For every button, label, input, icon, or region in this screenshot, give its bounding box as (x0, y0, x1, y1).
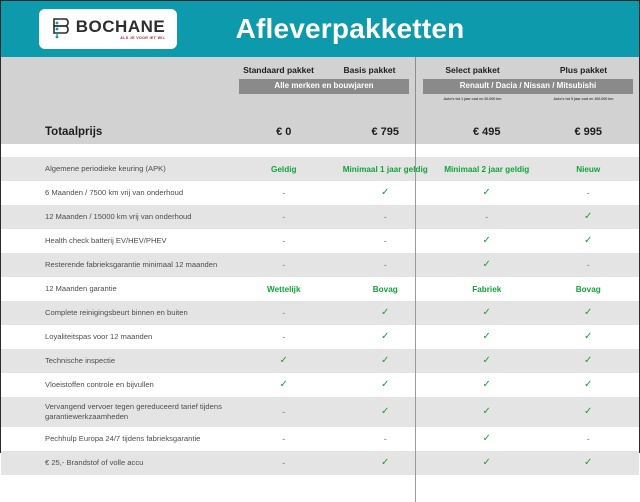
group-right-sub-1: Auto's tot 1 jaar oud en 20.000 km (417, 97, 528, 101)
row-cells: ✓✓✓✓ (233, 373, 639, 397)
cell-plus: - (538, 253, 640, 277)
cell-select: ✓ (436, 253, 538, 277)
row-label: Algemene periodieke keuring (APK) (1, 164, 233, 174)
cell-basis: - (335, 205, 437, 229)
cell-plus: ✓ (538, 229, 640, 253)
cell-select: - (436, 205, 538, 229)
cell-basis: Minimaal 1 jaar geldig (335, 157, 437, 181)
total-price-plus: € 995 (538, 126, 640, 138)
spacer-divider (415, 144, 416, 157)
cell-basis: ✓ (335, 451, 437, 475)
cell-standaard: Geldig (233, 157, 335, 181)
footer-divider (415, 475, 416, 502)
total-price-basis: € 795 (335, 126, 437, 138)
cell-basis: ✓ (335, 181, 437, 205)
cell-basis: ✓ (335, 349, 437, 373)
cell-select: ✓ (436, 301, 538, 325)
row-label: Resterende fabrieksgarantie minimaal 12 … (1, 260, 233, 270)
total-price-row: Totaalprijs € 0 € 795 € 495 € 995 (1, 120, 639, 144)
row-label: 12 Maanden / 15000 km vrij van onderhoud (1, 212, 233, 222)
table-row: Technische inspectie✓✓✓✓ (1, 349, 639, 373)
column-header-plus: Plus pakket (528, 65, 639, 75)
row-cells: -✓✓✓ (233, 451, 639, 475)
cell-standaard: - (233, 427, 335, 451)
row-cells: -✓✓✓ (233, 301, 639, 325)
group-left-sub-2 (324, 97, 415, 106)
header-divider (415, 57, 416, 120)
row-label: Complete reinigingsbeurt binnen en buite… (1, 308, 233, 318)
table-row: € 25,- Brandstof of volle accu-✓✓✓ (1, 451, 639, 475)
package-group-right: Select pakket Plus pakket Renault / Daci… (417, 65, 639, 101)
cell-basis: - (335, 253, 437, 277)
table-row: Vloeistoffen controle en bijvullen✓✓✓✓ (1, 373, 639, 397)
cell-select: ✓ (436, 397, 538, 427)
cell-plus: - (538, 427, 640, 451)
row-label: € 25,- Brandstof of volle accu (1, 458, 233, 468)
cell-plus: ✓ (538, 205, 640, 229)
cell-basis: ✓ (335, 397, 437, 427)
cell-select: ✓ (436, 349, 538, 373)
package-group-left: Standaard pakket Basis pakket Alle merke… (233, 65, 415, 106)
row-label: Health check batterij EV/HEV/PHEV (1, 236, 233, 246)
cell-standaard: - (233, 451, 335, 475)
group-left-sub-1 (233, 97, 324, 106)
cell-plus: - (538, 181, 640, 205)
afleverpakketten-page: BOCHANE ALS JE VOOR IET WIL Afleverpakke… (0, 0, 640, 453)
column-header-basis: Basis pakket (324, 65, 415, 75)
cell-plus: ✓ (538, 397, 640, 427)
cell-basis: ✓ (335, 301, 437, 325)
cell-select: Fabriek (436, 277, 538, 301)
table-row: Pechhulp Europa 24/7 tijdens fabrieksgar… (1, 427, 639, 451)
group-left-band: Alle merken en bouwjaren (239, 79, 409, 94)
cell-standaard: - (233, 397, 335, 427)
cell-select: ✓ (436, 451, 538, 475)
table-row: 12 Maanden garantieWettelijkBovagFabriek… (1, 277, 639, 301)
cell-select: ✓ (436, 427, 538, 451)
cell-standaard: Wettelijk (233, 277, 335, 301)
cell-basis: ✓ (335, 373, 437, 397)
table-divider (415, 157, 416, 475)
cell-plus: ✓ (538, 373, 640, 397)
row-label: Vervangend vervoer tegen gereduceerd tar… (1, 402, 233, 423)
cell-standaard: - (233, 301, 335, 325)
feature-table: Algemene periodieke keuring (APK)GeldigM… (1, 157, 639, 475)
total-divider (415, 120, 416, 144)
cell-standaard: - (233, 205, 335, 229)
total-price-label: Totaalprijs (1, 126, 233, 138)
row-cells: -✓✓- (233, 181, 639, 205)
cell-plus: ✓ (538, 325, 640, 349)
cell-select: ✓ (436, 325, 538, 349)
row-label: Loyaliteitspas voor 12 maanden (1, 332, 233, 342)
group-right-band: Renault / Dacia / Nissan / Mitsubishi (423, 79, 633, 94)
column-header-standaard: Standaard pakket (233, 65, 324, 75)
header-spacer (1, 144, 639, 157)
row-cells: --✓✓ (233, 229, 639, 253)
cell-plus: Bovag (538, 277, 640, 301)
table-row: Health check batterij EV/HEV/PHEV--✓✓ (1, 229, 639, 253)
cell-plus: Nieuw (538, 157, 640, 181)
cell-basis: - (335, 427, 437, 451)
table-row: 12 Maanden / 15000 km vrij van onderhoud… (1, 205, 639, 229)
table-row: Complete reinigingsbeurt binnen en buite… (1, 301, 639, 325)
total-price-standaard: € 0 (233, 126, 335, 138)
row-label: 6 Maanden / 7500 km vrij van onderhoud (1, 188, 233, 198)
cell-select: Minimaal 2 jaar geldig (436, 157, 538, 181)
row-cells: GeldigMinimaal 1 jaar geldigMinimaal 2 j… (233, 157, 639, 181)
page-title: Afleverpakketten (1, 1, 639, 57)
page-banner: BOCHANE ALS JE VOOR IET WIL Afleverpakke… (1, 1, 639, 57)
row-cells: -✓✓✓ (233, 325, 639, 349)
group-right-sub-2: Auto's tot 5 jaar oud en 100.000 km (528, 97, 639, 101)
cell-select: ✓ (436, 229, 538, 253)
column-header-select: Select pakket (417, 65, 528, 75)
table-row: Loyaliteitspas voor 12 maanden-✓✓✓ (1, 325, 639, 349)
cell-standaard: - (233, 325, 335, 349)
cell-standaard: ✓ (233, 349, 335, 373)
cell-basis: Bovag (335, 277, 437, 301)
row-cells: ---✓ (233, 205, 639, 229)
row-label: 12 Maanden garantie (1, 284, 233, 294)
package-header: Standaard pakket Basis pakket Alle merke… (1, 57, 639, 120)
row-cells: -✓✓✓ (233, 397, 639, 427)
row-cells: ✓✓✓✓ (233, 349, 639, 373)
table-row: 6 Maanden / 7500 km vrij van onderhoud-✓… (1, 181, 639, 205)
row-label: Vloeistoffen controle en bijvullen (1, 380, 233, 390)
row-cells: WettelijkBovagFabriekBovag (233, 277, 639, 301)
cell-select: ✓ (436, 373, 538, 397)
cell-standaard: - (233, 229, 335, 253)
row-cells: --✓- (233, 427, 639, 451)
row-label: Technische inspectie (1, 356, 233, 366)
table-row: Algemene periodieke keuring (APK)GeldigM… (1, 157, 639, 181)
cell-plus: ✓ (538, 349, 640, 373)
table-row: Vervangend vervoer tegen gereduceerd tar… (1, 397, 639, 427)
cell-basis: ✓ (335, 325, 437, 349)
cell-plus: ✓ (538, 301, 640, 325)
cell-plus: ✓ (538, 451, 640, 475)
total-price-select: € 495 (436, 126, 538, 138)
table-row: Resterende fabrieksgarantie minimaal 12 … (1, 253, 639, 277)
row-label: Pechhulp Europa 24/7 tijdens fabrieksgar… (1, 434, 233, 444)
cell-standaard: - (233, 253, 335, 277)
cell-select: ✓ (436, 181, 538, 205)
cell-standaard: - (233, 181, 335, 205)
table-footer-spacer (1, 475, 639, 502)
cell-standaard: ✓ (233, 373, 335, 397)
row-cells: --✓- (233, 253, 639, 277)
cell-basis: - (335, 229, 437, 253)
